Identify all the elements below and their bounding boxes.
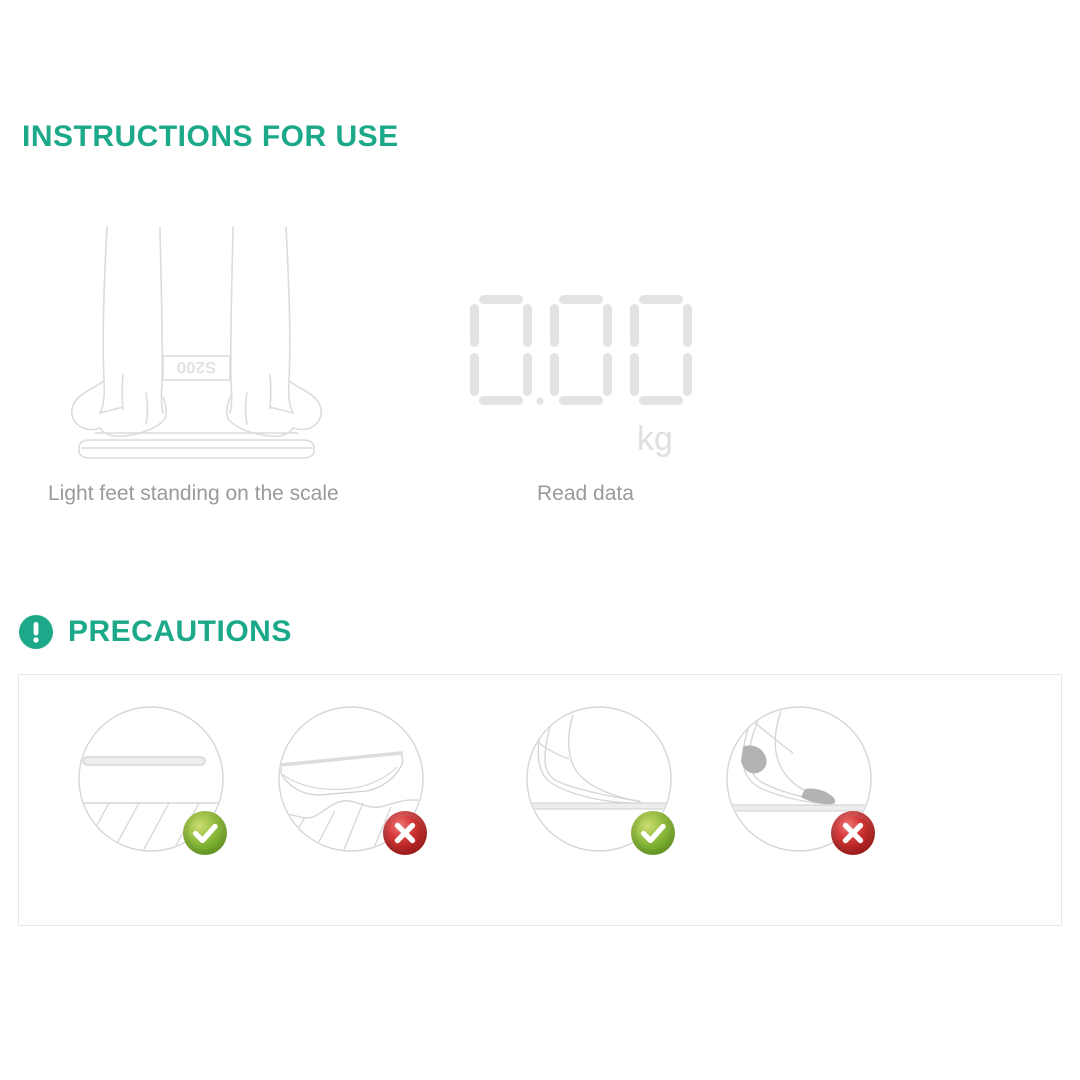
page-title-instructions: INSTRUCTIONS FOR USE [22, 120, 399, 154]
feet-on-scale-illustration: S200 [60, 215, 360, 470]
precautions-header: PRECAUTIONS [18, 614, 292, 650]
check-badge-icon [183, 811, 227, 855]
precaution-item-socked-foot [709, 691, 899, 881]
socked-foot-on-scale [709, 691, 899, 881]
cross-badge-icon [383, 811, 427, 855]
check-badge-icon [631, 811, 675, 855]
precaution-item-hard-floor [61, 691, 251, 881]
instruction-step-2-caption: Read data [537, 482, 740, 506]
scale-brand-text: S200 [177, 358, 217, 377]
precaution-item-uneven-floor [261, 691, 451, 881]
page-title-precautions: PRECAUTIONS [68, 615, 292, 649]
instruction-steps: S200 Light feet standing on the scale [0, 215, 1080, 545]
scale-on-hard-flat-floor [61, 691, 251, 881]
display-unit-label: kg [637, 420, 673, 458]
exclamation-circle-icon [18, 614, 54, 650]
precaution-items [19, 675, 1061, 925]
instruction-step-1: S200 Light feet standing on the scale [60, 215, 360, 506]
cross-badge-icon [831, 811, 875, 855]
instruction-step-1-caption: Light feet standing on the scale [48, 482, 360, 506]
scale-on-uneven-soft-carpet [261, 691, 451, 881]
scale-display-illustration: kg [440, 215, 740, 470]
precaution-item-bare-foot [509, 691, 699, 881]
precautions-panel [18, 674, 1062, 926]
bare-foot-on-scale [509, 691, 699, 881]
instruction-step-2: kg Read data [440, 215, 740, 506]
